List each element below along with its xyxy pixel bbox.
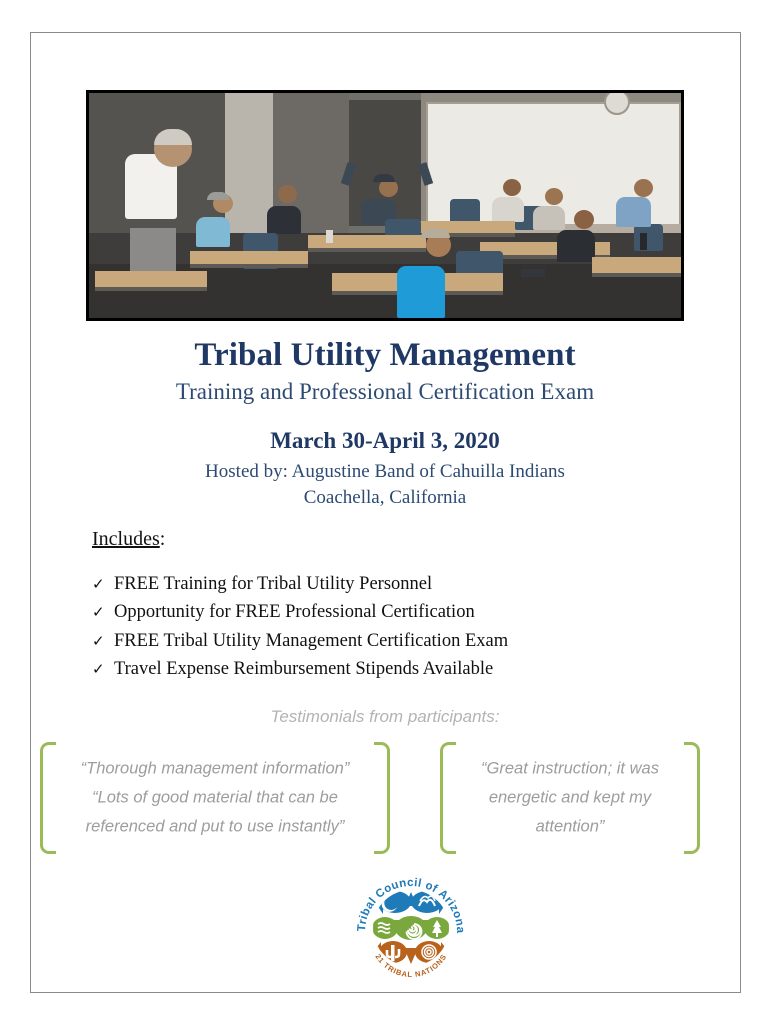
- page-title: Tribal Utility Management: [0, 337, 770, 374]
- checkmark-icon: ✓: [92, 658, 114, 681]
- includes-heading: Includes:: [92, 528, 165, 551]
- photo-coffee-cup: [326, 230, 333, 243]
- testimonials-heading: Testimonials from participants:: [0, 707, 770, 727]
- includes-list: ✓ FREE Training for Tribal Utility Perso…: [92, 570, 632, 683]
- photo-person-head: [634, 179, 653, 197]
- photo-person-torso: [557, 230, 595, 262]
- photo-person-head: [503, 179, 521, 196]
- event-location: Coachella, California: [0, 485, 770, 511]
- list-item: ✓ Opportunity for FREE Professional Cert…: [92, 598, 632, 626]
- list-item-label: FREE Training for Tribal Utility Personn…: [114, 570, 432, 598]
- photo-desk: [592, 257, 681, 277]
- photo-person-torso: [533, 206, 565, 230]
- includes-heading-label: Includes: [92, 528, 160, 550]
- list-item: ✓ FREE Training for Tribal Utility Perso…: [92, 570, 632, 598]
- photo-laptop: [521, 269, 545, 277]
- bracket-left-icon: [40, 742, 56, 854]
- photo-person-cap: [207, 192, 229, 200]
- list-item-label: FREE Tribal Utility Management Certifica…: [114, 627, 508, 655]
- list-item-label: Travel Expense Reimbursement Stipends Av…: [114, 655, 493, 683]
- photo-person-torso: [196, 217, 230, 247]
- photo-desk: [95, 271, 207, 291]
- page-subtitle: Training and Professional Certification …: [0, 379, 770, 405]
- checkmark-icon: ✓: [92, 630, 114, 653]
- list-item: ✓ Travel Expense Reimbursement Stipends …: [92, 655, 632, 683]
- testimonial-right-text: “Great instruction; it was energetic and…: [462, 755, 678, 842]
- inter-tribal-council-of-arizona-logo: Inter Tribal Council of Arizona, Inc. 21…: [345, 862, 477, 994]
- photo-person-torso: [397, 266, 445, 318]
- bracket-right-icon: [684, 742, 700, 854]
- photo-person-torso: [492, 197, 524, 222]
- event-host-location: Hosted by: Augustine Band of Cahuilla In…: [0, 459, 770, 510]
- testimonial-right: “Great instruction; it was energetic and…: [440, 742, 700, 854]
- list-item: ✓ FREE Tribal Utility Management Certifi…: [92, 627, 632, 655]
- photo-person-torso: [267, 206, 301, 234]
- flyer-page: Tribal Utility Management Training and P…: [0, 0, 770, 1024]
- photo-chair: [634, 224, 664, 251]
- includes-heading-colon: :: [160, 528, 166, 550]
- photo-person-torso: [616, 197, 651, 227]
- photo-person-head: [545, 188, 563, 205]
- testimonial-left-text: “Thorough management information” “Lots …: [62, 755, 368, 842]
- photo-desk: [190, 251, 308, 269]
- bracket-left-icon: [440, 742, 456, 854]
- checkmark-icon: ✓: [92, 573, 114, 596]
- list-item-label: Opportunity for FREE Professional Certif…: [114, 598, 475, 626]
- event-dates: March 30-April 3, 2020: [0, 428, 770, 454]
- event-host: Hosted by: Augustine Band of Cahuilla In…: [0, 459, 770, 485]
- testimonial-left: “Thorough management information” “Lots …: [40, 742, 390, 854]
- photo-person-cap: [373, 174, 395, 182]
- photo-wall-clock: [604, 90, 630, 115]
- photo-water-bottle: [640, 233, 647, 250]
- checkmark-icon: ✓: [92, 601, 114, 624]
- photo-person-cap: [421, 228, 450, 238]
- classroom-training-photo: [86, 90, 684, 321]
- bracket-right-icon: [374, 742, 390, 854]
